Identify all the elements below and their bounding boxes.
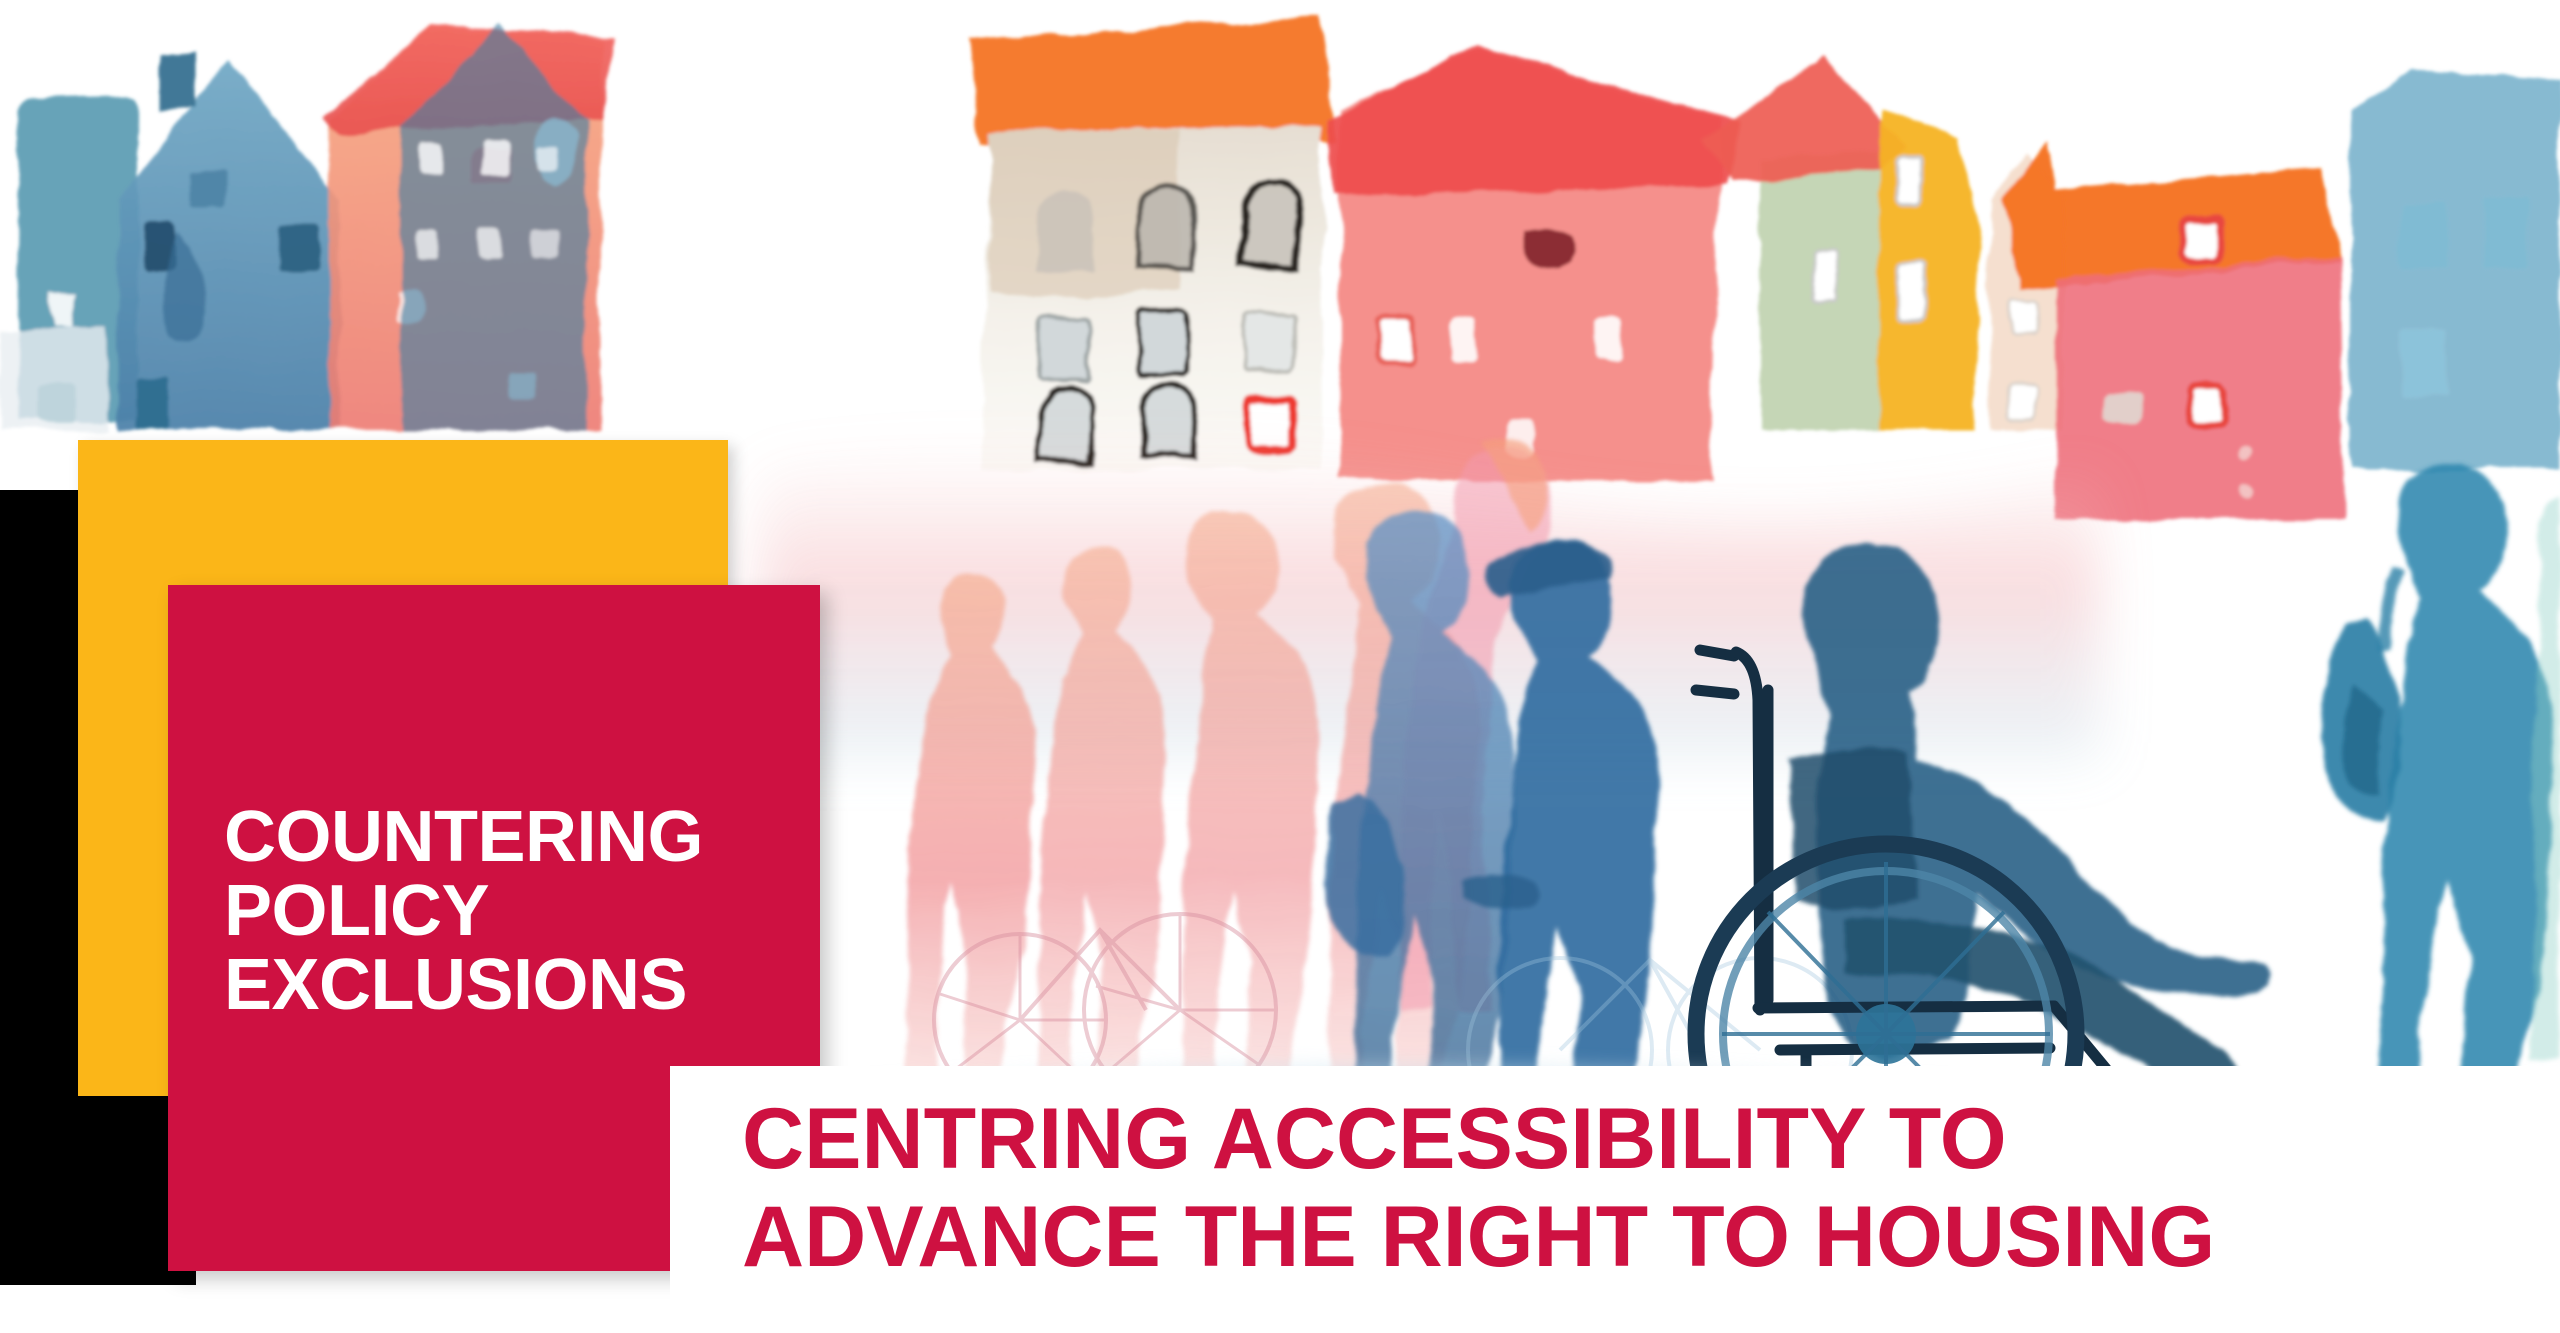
poster-canvas: COUNTERING POLICY EXCLUSIONS CENTRING AC… xyxy=(0,0,2560,1333)
subtitle-line-1: CENTRING ACCESSIBILITY TO xyxy=(742,1090,2550,1188)
headline-line-2: POLICY xyxy=(224,874,792,948)
headline-line-1: COUNTERING xyxy=(224,800,792,874)
page-subtitle: CENTRING ACCESSIBILITY TO ADVANCE THE RI… xyxy=(742,1090,2550,1286)
headline-line-3: EXCLUSIONS xyxy=(224,948,792,1022)
page-title: COUNTERING POLICY EXCLUSIONS xyxy=(224,800,792,1022)
subtitle-banner: CENTRING ACCESSIBILITY TO ADVANCE THE RI… xyxy=(670,1066,2560,1333)
subtitle-line-2: ADVANCE THE RIGHT TO HOUSING xyxy=(742,1188,2550,1286)
